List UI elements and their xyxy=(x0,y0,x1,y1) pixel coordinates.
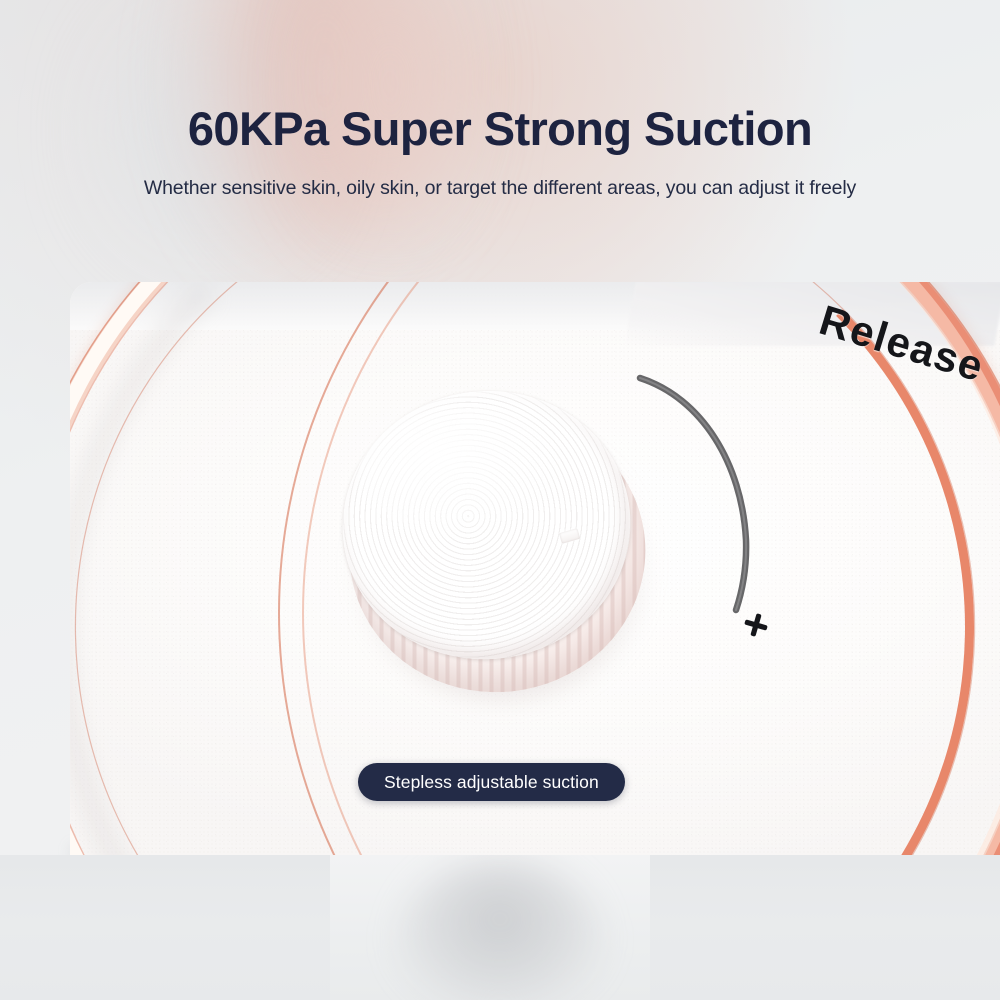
page-subtitle: Whether sensitive skin, oily skin, or ta… xyxy=(0,177,1000,200)
marketing-image-root: 60KPa Super Strong Suction Whether sensi… xyxy=(0,0,1000,1000)
page-title: 60KPa Super Strong Suction xyxy=(0,104,1000,154)
suction-adjust-knob[interactable] xyxy=(327,373,669,724)
headline-block: 60KPa Super Strong Suction Whether sensi… xyxy=(0,104,1000,200)
plus-icon xyxy=(743,612,769,638)
lower-background-strip xyxy=(0,855,1000,1000)
callout-badge-stepless-suction: Stepless adjustable suction xyxy=(358,763,625,801)
